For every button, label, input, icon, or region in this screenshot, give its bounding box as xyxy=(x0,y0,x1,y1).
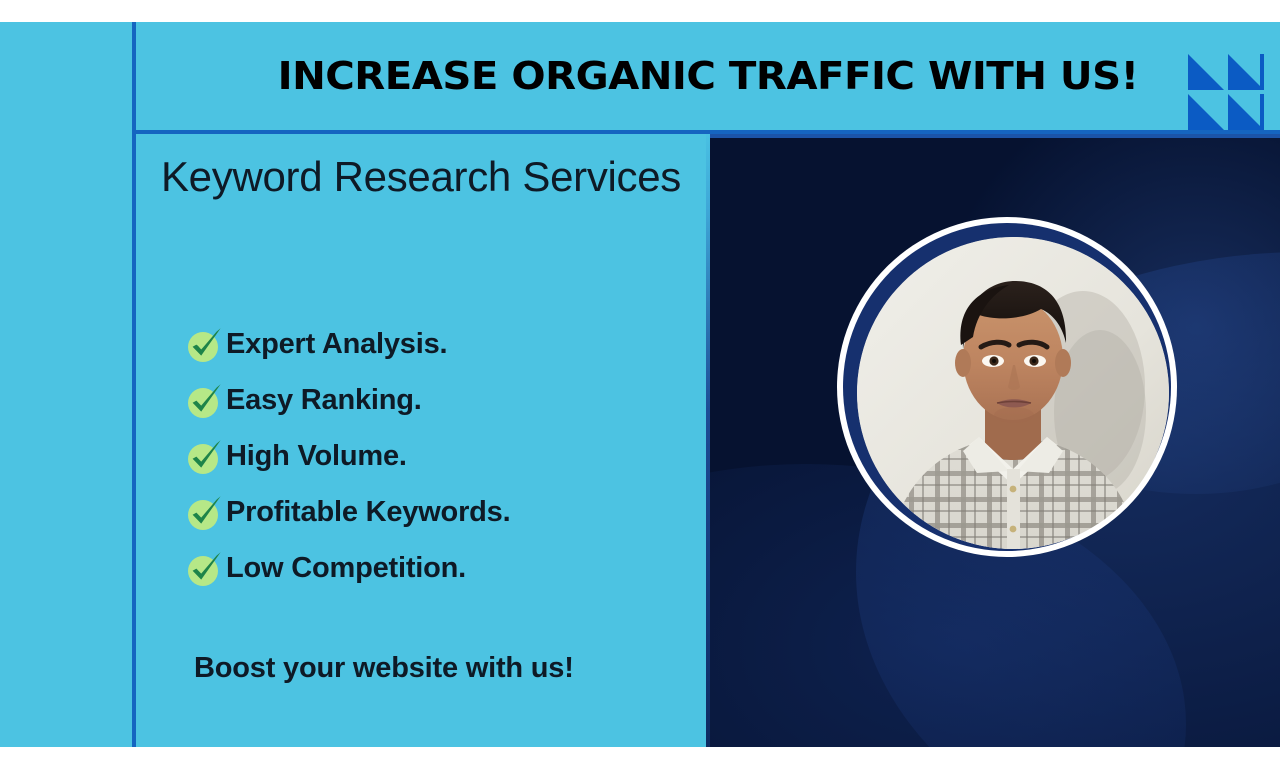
service-title: Keyword Research Services xyxy=(136,150,706,203)
page-title: INCREASE ORGANIC TRAFFIC WITH US! xyxy=(278,54,1139,98)
green-check-icon xyxy=(186,550,224,588)
list-item-label: Profitable Keywords. xyxy=(226,496,510,529)
list-item-label: Expert Analysis. xyxy=(226,328,447,361)
four-triangle-logo xyxy=(1188,54,1264,130)
green-check-icon xyxy=(186,438,224,476)
avatar xyxy=(857,237,1169,549)
content-column: Keyword Research Services Expert Analysi… xyxy=(136,134,706,747)
avatar-inner-ring xyxy=(843,223,1171,551)
list-item: Low Competition. xyxy=(186,541,706,596)
green-check-icon xyxy=(186,494,224,532)
list-item: High Volume. xyxy=(186,429,706,484)
panel-left-border xyxy=(706,134,710,747)
photo-panel xyxy=(706,134,1280,747)
panel-top-border xyxy=(706,134,1280,138)
avatar-outer-ring xyxy=(837,217,1177,557)
banner-board: INCREASE ORGANIC TRAFFIC WITH US! xyxy=(0,22,1280,747)
list-item-label: Low Competition. xyxy=(226,552,466,585)
list-item: Easy Ranking. xyxy=(186,373,706,428)
list-item-label: Easy Ranking. xyxy=(226,384,422,417)
headline-bar: INCREASE ORGANIC TRAFFIC WITH US! xyxy=(136,22,1280,130)
green-check-icon xyxy=(186,382,224,420)
list-item-label: High Volume. xyxy=(226,440,407,473)
feature-list: Expert Analysis. Easy Ranking. xyxy=(186,317,706,597)
call-to-action-text: Boost your website with us! xyxy=(194,652,574,685)
list-item: Expert Analysis. xyxy=(186,317,706,372)
green-check-icon xyxy=(186,326,224,364)
list-item: Profitable Keywords. xyxy=(186,485,706,540)
banner-canvas: INCREASE ORGANIC TRAFFIC WITH US! xyxy=(0,0,1280,769)
